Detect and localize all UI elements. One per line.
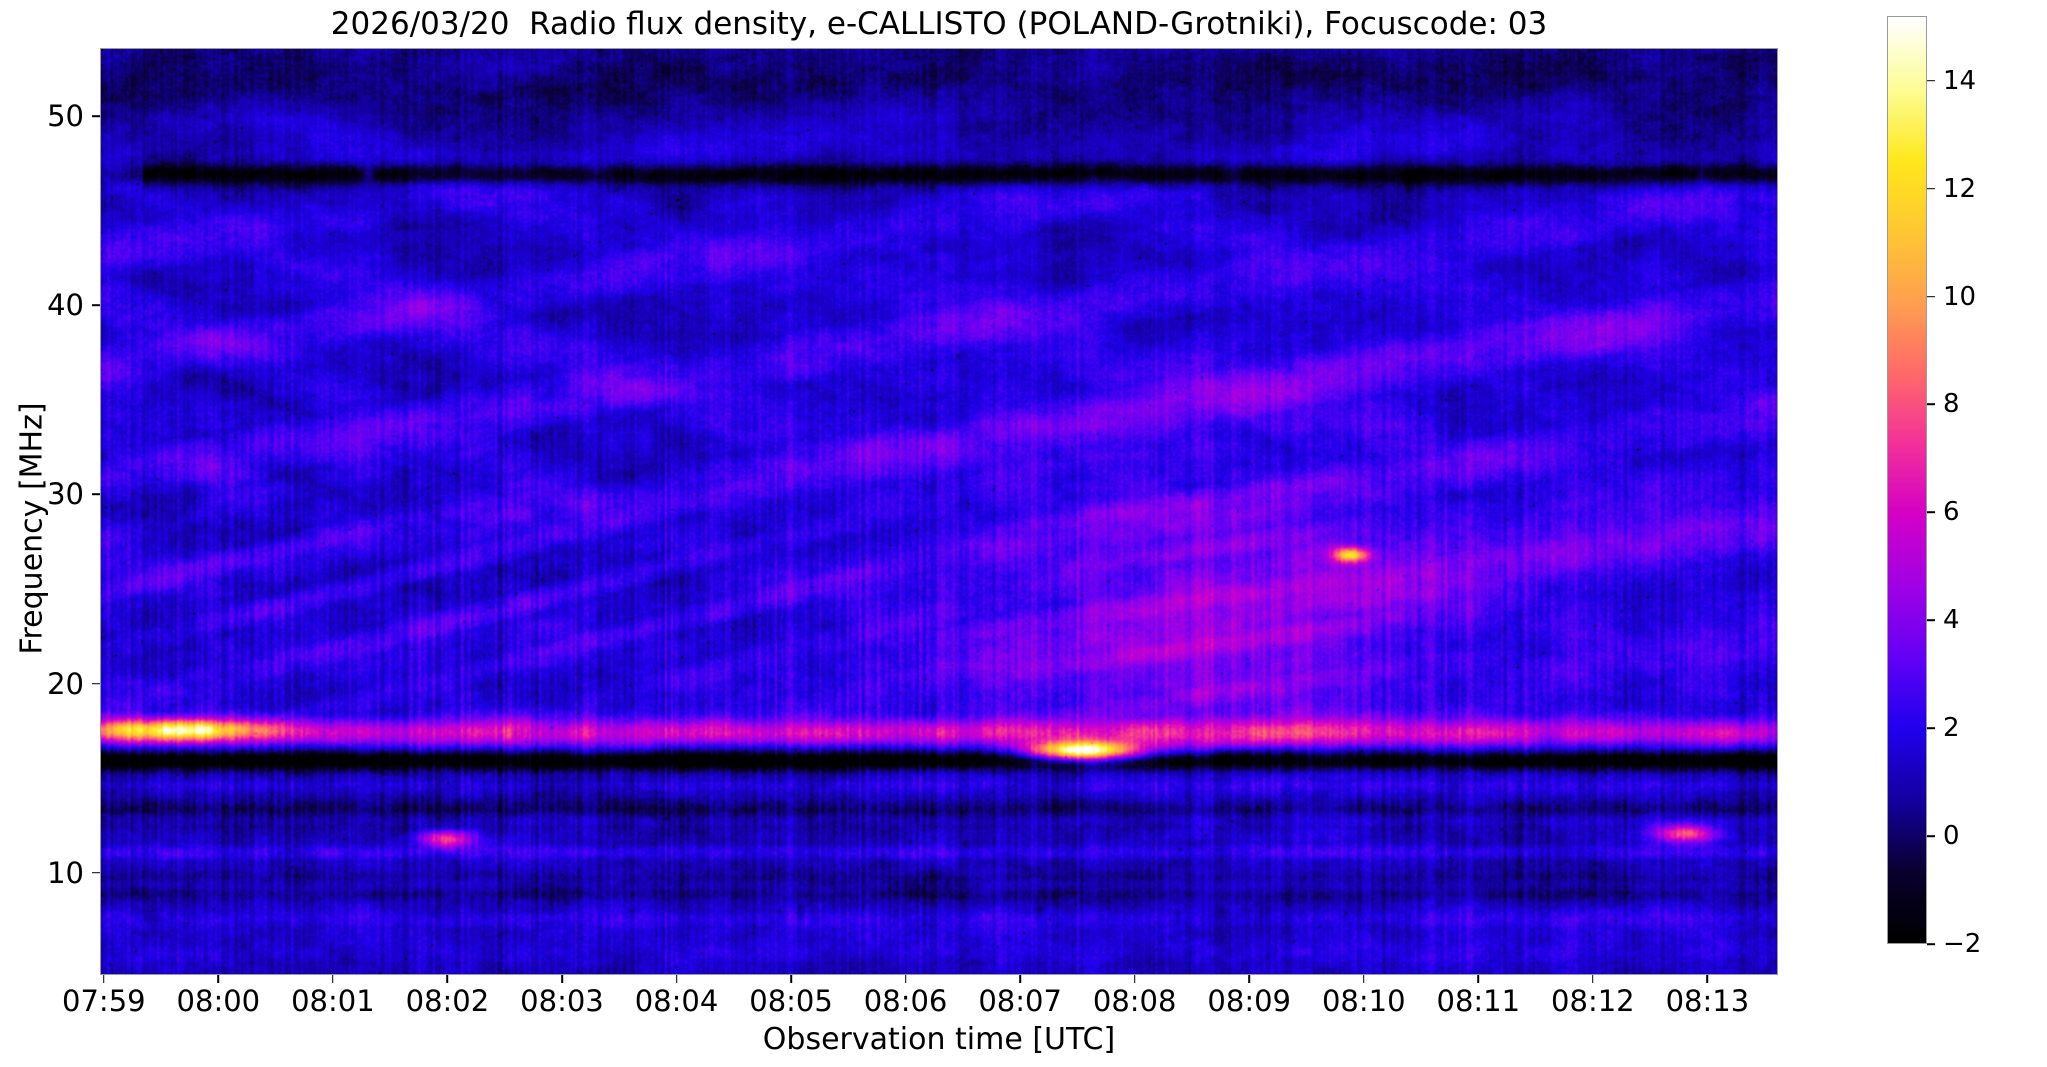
- colorbar-tick-label: −2: [1943, 929, 1981, 959]
- x-tick-mark: [1592, 975, 1594, 983]
- x-tick-label: 08:11: [1436, 984, 1520, 1018]
- colorbar-tick-mark: [1927, 835, 1935, 837]
- y-tick-label: 30: [47, 477, 84, 511]
- colorbar-tick-mark: [1927, 512, 1935, 514]
- x-tick-label: 08:07: [978, 984, 1062, 1018]
- x-tick-mark: [905, 975, 907, 983]
- x-tick-mark: [1134, 975, 1136, 983]
- colorbar-tick-mark: [1927, 727, 1935, 729]
- y-tick-mark: [92, 683, 100, 685]
- figure-title: 2026/03/20 Radio flux density, e-CALLIST…: [0, 6, 1878, 42]
- x-tick-mark: [1019, 975, 1021, 983]
- colorbar-tick-label: 6: [1943, 497, 1960, 527]
- colorbar-tick-label: 0: [1943, 821, 1960, 851]
- colorbar-tick-label: 2: [1943, 713, 1960, 743]
- spectrogram-image: [101, 49, 1778, 975]
- x-tick-mark: [790, 975, 792, 983]
- y-tick-mark: [92, 872, 100, 874]
- x-tick-mark: [561, 975, 563, 983]
- figure-canvas: 2026/03/20 Radio flux density, e-CALLIST…: [0, 0, 2047, 1067]
- x-tick-label: 08:08: [1093, 984, 1177, 1018]
- colorbar-tick-mark: [1927, 943, 1935, 945]
- y-tick-label: 20: [47, 667, 84, 701]
- x-tick-label: 08:05: [749, 984, 833, 1018]
- x-tick-mark: [676, 975, 678, 983]
- x-tick-label: 07:59: [62, 984, 146, 1018]
- x-tick-mark: [1248, 975, 1250, 983]
- colorbar: [1887, 16, 1927, 944]
- colorbar-tick-label: 4: [1943, 605, 1960, 635]
- x-tick-label: 08:09: [1207, 984, 1291, 1018]
- x-tick-mark: [332, 975, 334, 983]
- x-tick-mark: [1363, 975, 1365, 983]
- colorbar-tick-mark: [1927, 188, 1935, 190]
- x-axis-label: Observation time [UTC]: [100, 1022, 1778, 1057]
- colorbar-tick-mark: [1927, 296, 1935, 298]
- x-tick-label: 08:13: [1666, 984, 1750, 1018]
- colorbar-tick-label: 12: [1943, 174, 1976, 204]
- x-tick-mark: [218, 975, 220, 983]
- x-tick-label: 08:01: [291, 984, 375, 1018]
- x-tick-label: 08:02: [406, 984, 490, 1018]
- x-tick-label: 08:12: [1551, 984, 1635, 1018]
- y-tick-label: 10: [47, 856, 84, 890]
- x-tick-label: 08:10: [1322, 984, 1406, 1018]
- y-tick-mark: [92, 304, 100, 306]
- x-tick-label: 08:04: [635, 984, 719, 1018]
- colorbar-tick-label: 14: [1943, 66, 1976, 96]
- x-tick-mark: [103, 975, 105, 983]
- colorbar-tick-mark: [1927, 404, 1935, 406]
- colorbar-tick-label: 8: [1943, 389, 1960, 419]
- colorbar-tick-label: 10: [1943, 282, 1976, 312]
- y-tick-mark: [92, 115, 100, 117]
- x-tick-mark: [447, 975, 449, 983]
- colorbar-gradient: [1888, 17, 1926, 943]
- colorbar-tick-mark: [1927, 619, 1935, 621]
- y-tick-mark: [92, 494, 100, 496]
- x-tick-mark: [1477, 975, 1479, 983]
- x-tick-label: 08:03: [520, 984, 604, 1018]
- colorbar-tick-mark: [1927, 80, 1935, 82]
- spectrogram-axes: [100, 48, 1778, 975]
- x-tick-label: 08:06: [864, 984, 948, 1018]
- x-tick-mark: [1707, 975, 1709, 983]
- x-tick-label: 08:00: [177, 984, 261, 1018]
- y-tick-label: 50: [47, 99, 84, 133]
- y-tick-label: 40: [47, 288, 84, 322]
- y-axis-label: Frequency [MHz]: [15, 314, 50, 744]
